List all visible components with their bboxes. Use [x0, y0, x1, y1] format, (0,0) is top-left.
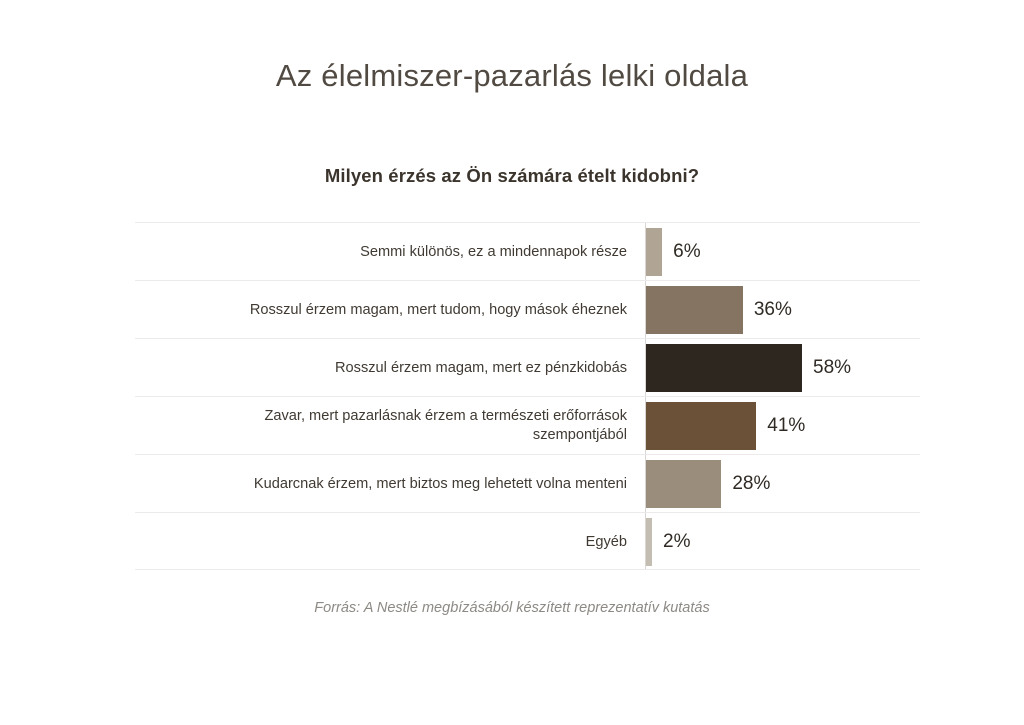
- bar: [646, 228, 662, 276]
- category-label: Rosszul érzem magam, mert tudom, hogy má…: [135, 281, 629, 339]
- bar-value-label: 28%: [732, 473, 770, 495]
- bar: [646, 344, 802, 392]
- category-label: Kudarcnak érzem, mert biztos meg lehetet…: [135, 455, 629, 513]
- category-label-line: szempontjából: [264, 426, 627, 445]
- category-label-line: Kudarcnak érzem, mert biztos meg lehetet…: [254, 475, 627, 494]
- category-label: Semmi különös, ez a mindennapok része: [135, 223, 629, 281]
- category-label-line: Rosszul érzem magam, mert tudom, hogy má…: [250, 301, 627, 320]
- bar: [646, 402, 756, 450]
- bar-chart-plot-area: Semmi különös, ez a mindennapok része 6%…: [135, 222, 920, 570]
- bar-value-label: 2%: [663, 531, 690, 553]
- chart-subtitle: Milyen érzés az Ön számára ételt kidobni…: [0, 165, 1024, 187]
- bar-value-label: 36%: [754, 299, 792, 321]
- category-label: Egyéb: [135, 513, 629, 571]
- bar-track: 58%: [646, 339, 920, 397]
- chart-row: Rosszul érzem magam, mert ez pénzkidobás…: [135, 338, 920, 396]
- bar: [646, 286, 743, 334]
- chart-row: Rosszul érzem magam, mert tudom, hogy má…: [135, 280, 920, 338]
- category-label: Zavar, mert pazarlásnak érzem a természe…: [135, 397, 629, 455]
- category-label-line: Rosszul érzem magam, mert ez pénzkidobás: [335, 359, 627, 378]
- bar-track: 2%: [646, 513, 920, 571]
- bar-track: 41%: [646, 397, 920, 455]
- bar-value-label: 41%: [767, 415, 805, 437]
- bar-value-label: 58%: [813, 357, 851, 379]
- page-title: Az élelmiszer-pazarlás lelki oldala: [0, 58, 1024, 94]
- category-label-line: Egyéb: [586, 533, 627, 552]
- chart-row: Egyéb 2%: [135, 512, 920, 570]
- bar: [646, 518, 652, 566]
- source-note: Forrás: A Nestlé megbízásából készített …: [0, 600, 1024, 616]
- bar-track: 36%: [646, 281, 920, 339]
- chart-row: Kudarcnak érzem, mert biztos meg lehetet…: [135, 454, 920, 512]
- category-label-line: Semmi különös, ez a mindennapok része: [360, 243, 627, 262]
- category-label-line: Zavar, mert pazarlásnak érzem a természe…: [264, 407, 627, 426]
- chart-row: Semmi különös, ez a mindennapok része 6%: [135, 222, 920, 280]
- chart-row: Zavar, mert pazarlásnak érzem a természe…: [135, 396, 920, 454]
- bar-track: 28%: [646, 455, 920, 513]
- bar-value-label: 6%: [673, 241, 700, 263]
- category-label: Rosszul érzem magam, mert ez pénzkidobás: [135, 339, 629, 397]
- bar: [646, 460, 721, 508]
- chart-page: Az élelmiszer-pazarlás lelki oldala Mily…: [0, 0, 1024, 725]
- bar-track: 6%: [646, 223, 920, 281]
